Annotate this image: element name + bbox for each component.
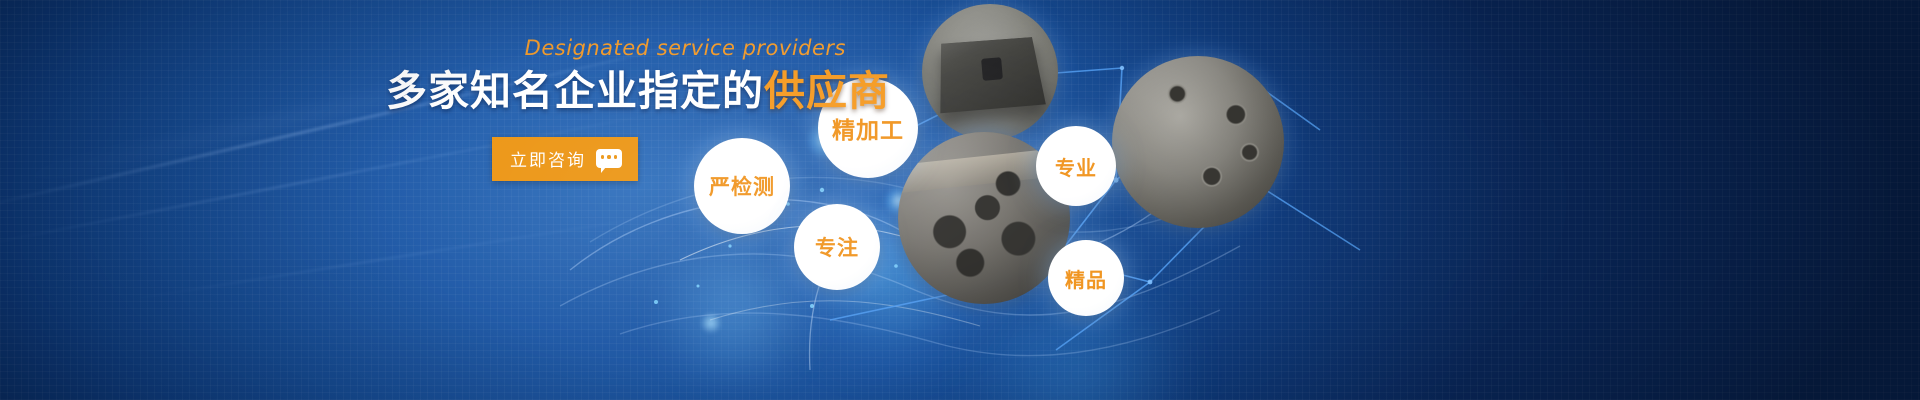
badge-focus[interactable]: 专注 (794, 204, 880, 290)
photo-steel-plate (922, 4, 1058, 140)
consult-now-button[interactable]: 立即咨询 (492, 137, 638, 181)
badge-premium[interactable]: 精品 (1048, 240, 1124, 316)
photo-sheen (922, 4, 1058, 140)
chat-bubble-dots (596, 155, 622, 159)
hero-banner: 精加工 严检测 专注 专业 精品 Designated service prov… (0, 0, 1920, 400)
hero-tagline: Designated service providers (386, 36, 846, 60)
badge-professional[interactable]: 专业 (1036, 126, 1116, 206)
badge-premium-label: 精品 (1065, 264, 1107, 293)
consult-now-label: 立即咨询 (510, 146, 586, 171)
page-title: 多家知名企业指定的供应商 (386, 66, 846, 117)
hero-copy: Designated service providers 多家知名企业指定的供应… (386, 36, 846, 181)
chat-bubble-icon (596, 149, 622, 168)
glow-spark-d (700, 312, 722, 334)
badge-professional-label: 专业 (1055, 152, 1097, 181)
badge-focus-label: 专注 (815, 232, 859, 262)
headline-main-text: 多家知名企业指定的 (386, 68, 764, 114)
photo-sheen (1112, 56, 1284, 228)
headline-accent-text: 供应商 (764, 68, 890, 114)
light-streak-3 (120, 212, 673, 302)
photo-steel-pipes (1112, 56, 1284, 228)
